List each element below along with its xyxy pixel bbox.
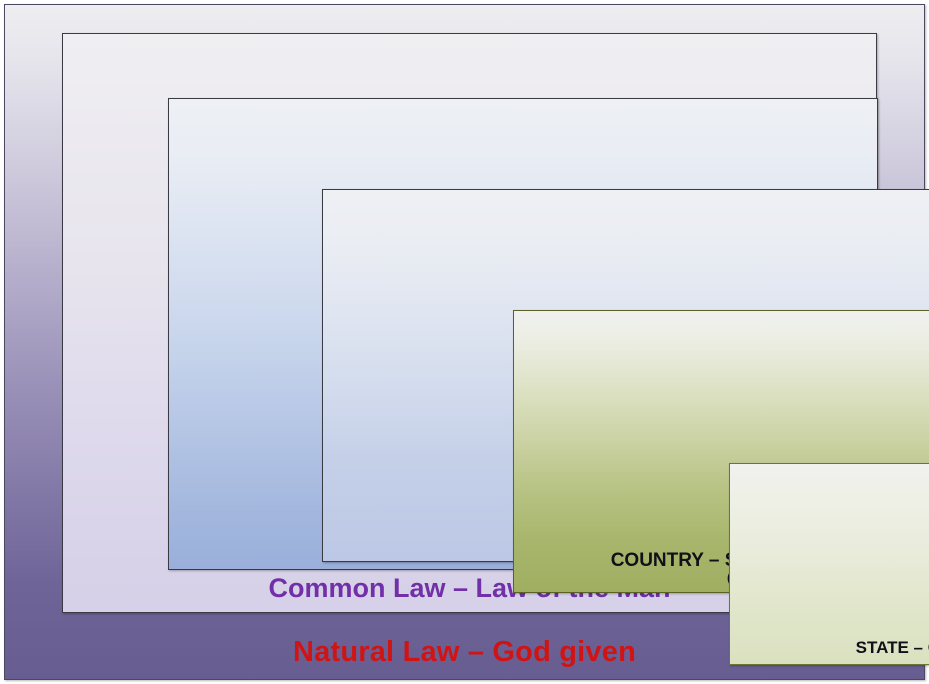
layer-state-county-region[interactable]: STATE – COUNTY - REGION CITY	[729, 463, 929, 665]
diagram-canvas: Natural Law – God given Common Law – Law…	[0, 0, 929, 684]
layer-state-county-region-text: STATE – COUNTY - REGION	[856, 638, 929, 657]
layer-country-statutes[interactable]: COUNTRY – Statutes and Legislation (as C…	[513, 310, 929, 593]
layer-natural-law-text: Natural Law – God given	[293, 636, 636, 668]
layer-natural-law[interactable]: Natural Law – God given Common Law – Law…	[4, 4, 925, 680]
layer-common-law[interactable]: Common Law – Law of the Man Maritime Law…	[62, 33, 877, 613]
layer-maritime-law[interactable]: Maritime Law – Merchant Law The Country …	[168, 98, 878, 570]
layer-state-county-region-label: STATE – COUNTY - REGION	[730, 639, 929, 657]
layer-the-country[interactable]: The Country (as nation) COUNTRY – Statut…	[322, 189, 929, 562]
